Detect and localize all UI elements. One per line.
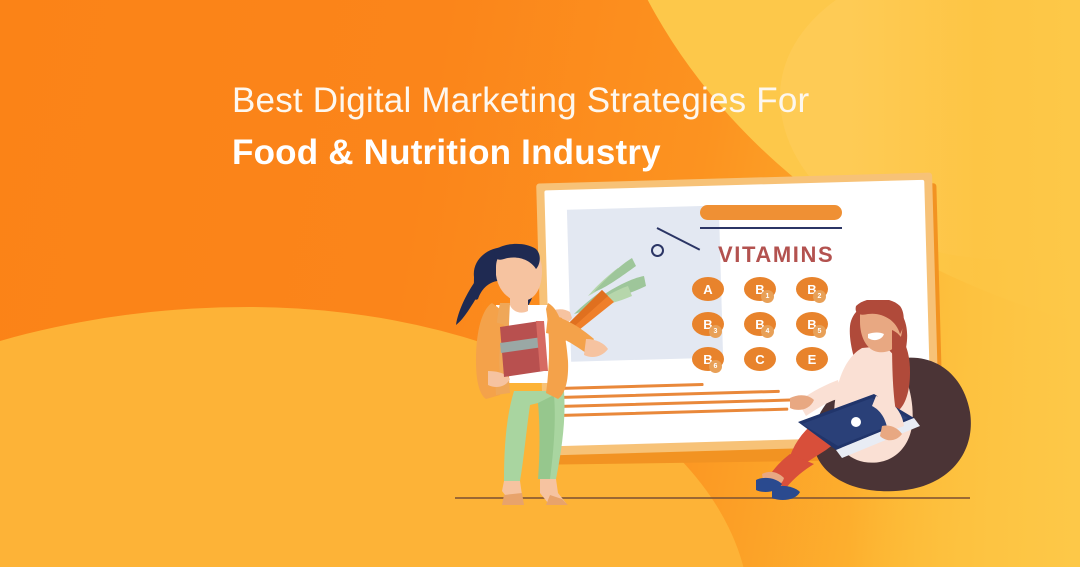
- vitamin-badge-subscript: 3: [709, 325, 722, 338]
- connector-endpoint-dot: [651, 244, 664, 257]
- hand-right: [584, 339, 608, 357]
- vitamin-badge-6: B 6: [692, 347, 726, 372]
- person-standing-illustration: [452, 243, 637, 508]
- headline-line-1: Best Digital Marketing Strategies For: [232, 78, 992, 124]
- vitamin-badge-subscript: 6: [709, 360, 722, 373]
- vitamin-badge-0: A: [692, 277, 726, 302]
- headline-block: Best Digital Marketing Strategies For Fo…: [232, 78, 992, 176]
- orange-pill-bar: [700, 205, 842, 220]
- headline-line-2: Food & Nutrition Industry: [232, 130, 992, 176]
- shoe-second: [772, 486, 800, 500]
- hair-strand: [456, 283, 478, 325]
- connector-line-horizontal: [700, 227, 842, 229]
- vitamin-badge-3: B 3: [692, 312, 726, 337]
- promo-banner: Best Digital Marketing Strategies For Fo…: [0, 0, 1080, 567]
- vitamin-badge-letter: A: [692, 277, 724, 301]
- pants: [504, 391, 565, 481]
- person-seated-illustration: [756, 300, 986, 505]
- vitamins-title: VITAMINS: [718, 242, 834, 268]
- vitamin-badge-1: B 1: [744, 277, 778, 302]
- laptop-logo: [851, 417, 861, 427]
- vitamin-badge-2: B 2: [796, 277, 830, 302]
